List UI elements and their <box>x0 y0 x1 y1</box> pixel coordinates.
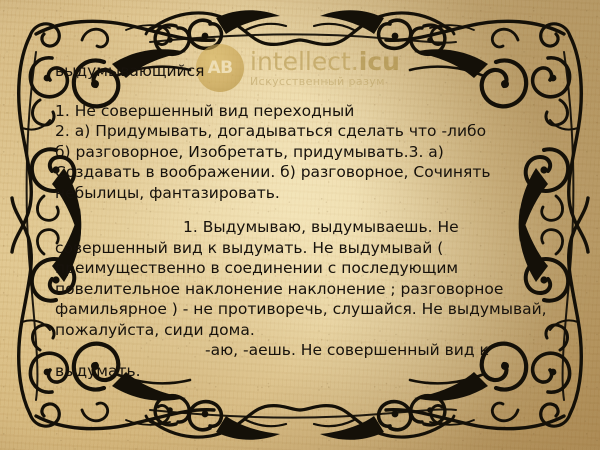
definitions-text: 1. Не совершенный вид переходный 2. а) П… <box>55 102 491 202</box>
slide-content: выдумывающийся 1. Не совершенный вид пер… <box>55 62 550 381</box>
ending-block: -аю, -аешь. Не совершенный вид к выдумат… <box>55 340 550 381</box>
conjugation-block: 1. Выдумываю, выдумываешь. Не совершенны… <box>55 217 550 340</box>
ending-text: -аю, -аешь. Не совершенный вид к выдумат… <box>55 341 489 380</box>
conjugation-text: 1. Выдумываю, выдумываешь. Не совершенны… <box>55 218 547 339</box>
definitions-block: 1. Не совершенный вид переходный 2. а) П… <box>55 101 550 204</box>
slide-canvas: AB intellect.icu Искусственный разум выд… <box>0 0 600 450</box>
headword: выдумывающийся <box>55 62 550 81</box>
